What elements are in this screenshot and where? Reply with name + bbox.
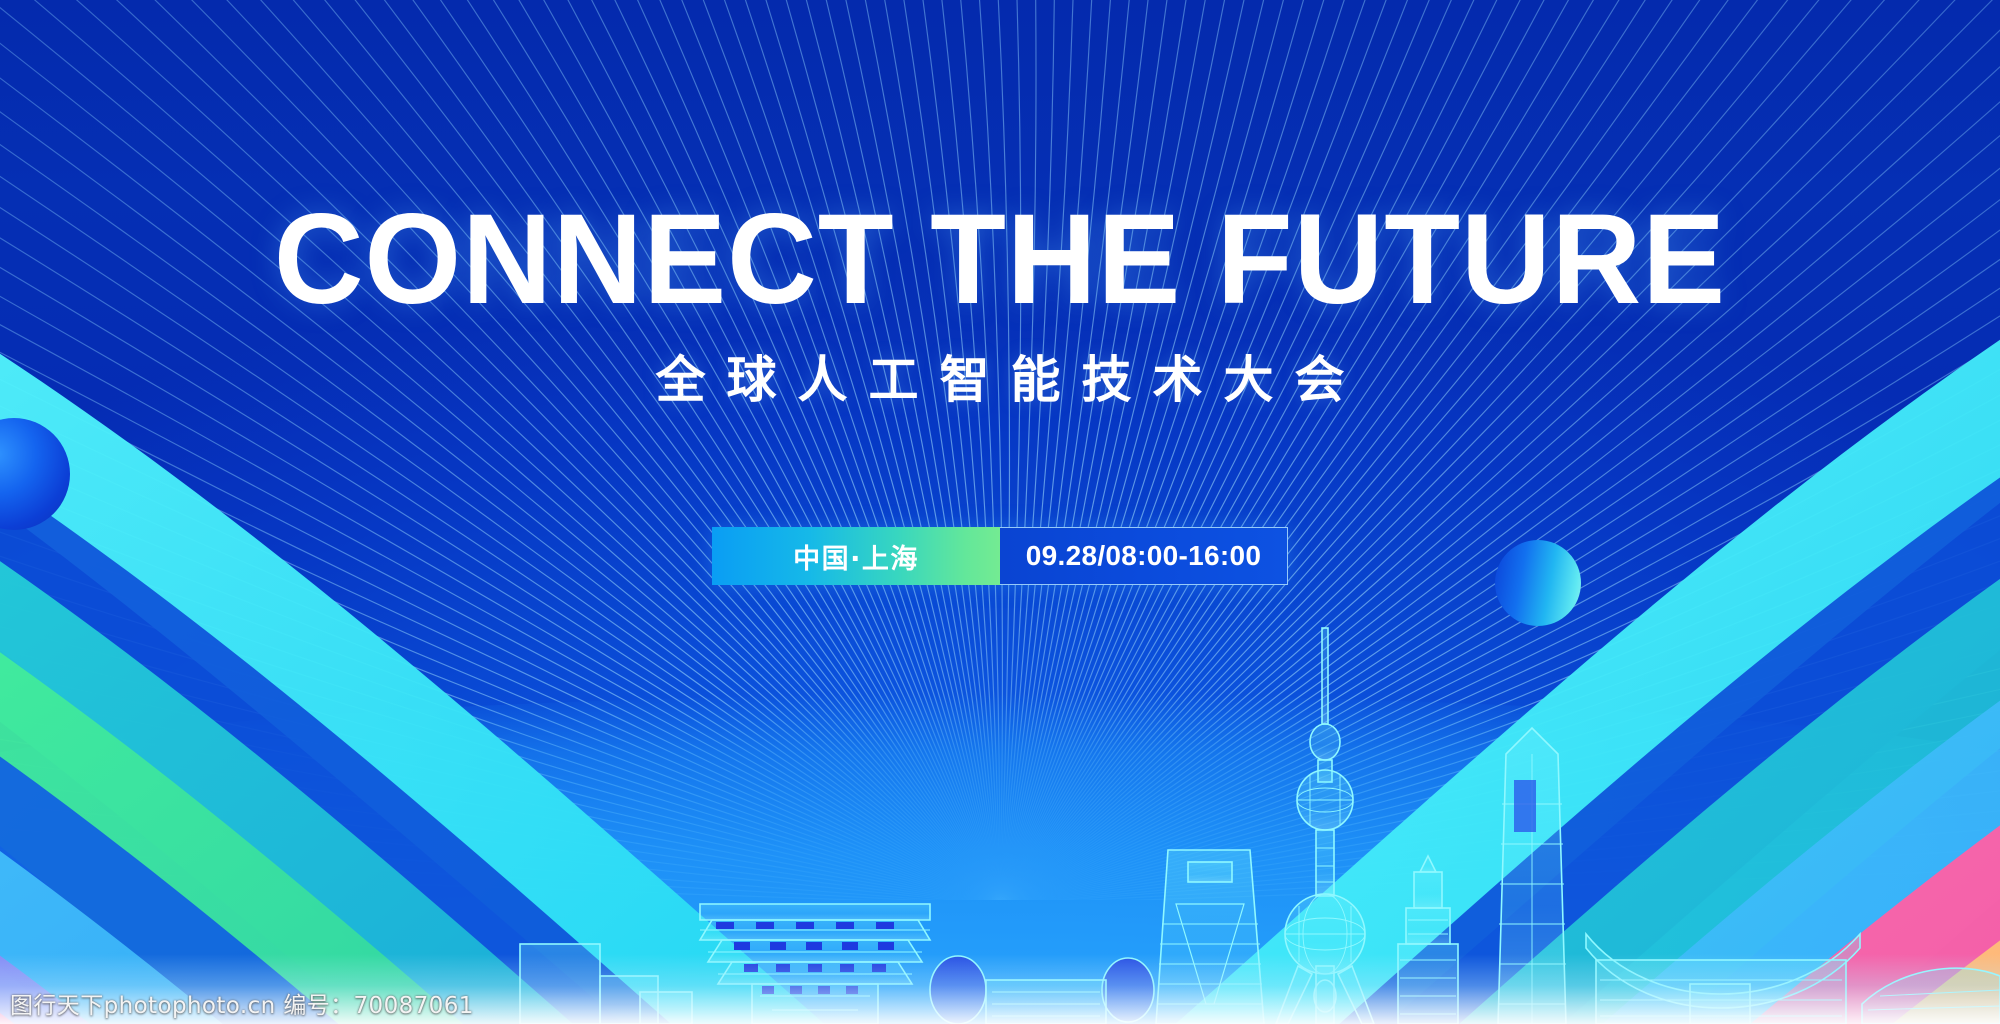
event-info-badge: 中国·上海 09.28/08:00-16:00 — [712, 527, 1288, 585]
poster-canvas: CONNECT THE FUTURE 全球人工智能技术大会 中国·上海 09.2… — [0, 0, 2000, 1024]
watermark-text: 图行天下photophoto.cn 编号：70087061 — [10, 986, 474, 1020]
badge-location: 中国·上海 — [712, 527, 1000, 585]
page-subtitle: 全球人工智能技术大会 — [0, 355, 2000, 405]
badge-datetime: 09.28/08:00-16:00 — [1000, 527, 1288, 585]
page-title: CONNECT THE FUTURE — [30, 196, 1970, 324]
